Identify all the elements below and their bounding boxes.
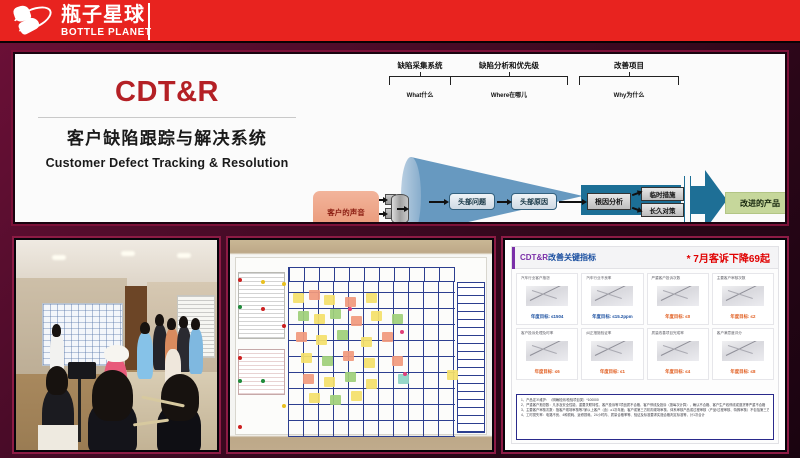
kpi-card[interactable]: 汽车行业不良率 年度目标: ≤15.2ppm [581, 273, 643, 325]
kpi-card[interactable]: 纠正措施验证率 年度目标: ≤1 [581, 328, 643, 380]
output-arrow-icon [691, 170, 723, 224]
kpi-card[interactable]: 主要客户审核次数 年度目标: ≤2 [712, 273, 774, 325]
process-box-2: 头部原因 [511, 193, 557, 210]
kpi-goal: 年度目标: ≤8 [713, 369, 773, 375]
kpi-card-label: 纠正措施验证率 [586, 332, 638, 336]
kpi-card[interactable]: 客户满意度评分 年度目标: ≤8 [712, 328, 774, 380]
kpi-goal: 年度目标: ≤0 [648, 314, 708, 320]
group-2-label: 缺陷分析和优先级 [447, 60, 571, 71]
kpi-chart-thumbnail [591, 286, 633, 306]
root-cause-box: 根因分析 [587, 193, 631, 210]
dashboard-footnotes: 1、产品定义维护：（明确检测/检验项目类）*100000 2、严重客户抱怨数：凡… [516, 394, 774, 440]
kpi-goal: 年度目标: ≤1504 [517, 314, 577, 320]
phase-separator [684, 176, 691, 224]
kpi-card-label: 严重客户投诉次数 [652, 277, 704, 281]
kpi-chart-thumbnail [722, 286, 764, 306]
subtitle-en: Customer Defect Tracking & Resolution [33, 156, 301, 170]
process-box-1: 头部问题 [449, 193, 495, 210]
dashboard-header: CDT&R改善关键指标 * 7月客诉下降69起 [512, 247, 778, 269]
accent-bar [512, 247, 515, 269]
funnel-shape [411, 157, 583, 224]
kpi-card-label: 质量改善项目完成率 [652, 332, 704, 336]
page-title: CDT&R [33, 76, 301, 109]
brand-name-en: BOTTLE PLANET [61, 28, 152, 38]
kpi-chart-thumbnail [526, 286, 568, 306]
kpi-card[interactable]: 汽车行业客户抱怨 年度目标: ≤1504 [516, 273, 578, 325]
bottle-planet-logo-icon [10, 4, 54, 38]
kpi-goal: 年度目标: ≤15.2ppm [582, 314, 642, 320]
dashboard-title-prefix: CDT&R [520, 253, 548, 262]
group-3-sub: Why为什么 [573, 90, 685, 99]
action-box-1: 临时措施 [641, 187, 684, 201]
arrow-to-db [397, 208, 405, 210]
kpi-card-label: 客户满意度评分 [717, 332, 769, 336]
kpi-chart-thumbnail [591, 341, 633, 361]
subtitle-cn: 客户缺陷跟踪与解决系统 [33, 124, 301, 149]
kpi-card-grid: 汽车行业客户抱怨 年度目标: ≤1504 汽车行业不良率 年度目标: ≤15.2… [516, 273, 774, 380]
group-3-label: 改善项目 [573, 60, 685, 71]
kpi-goal: 年度目标: ≤4 [648, 369, 708, 375]
kpi-card[interactable]: 严重客户投诉次数 年度目标: ≤0 [647, 273, 709, 325]
kpi-card-label: 汽车行业不良率 [586, 277, 638, 281]
kpi-card-label: 主要客户审核次数 [717, 277, 769, 281]
arrow-p1 [429, 201, 445, 203]
kpi-chart-thumbnail [657, 286, 699, 306]
diagram-title-block: CDT&R 客户缺陷跟踪与解决系统 Customer Defect Tracki… [33, 76, 301, 170]
visual-management-board-photo [228, 238, 494, 452]
kpi-card[interactable]: 客户投诉处理及时率 年度目标: ≤6 [516, 328, 578, 380]
kpi-chart-thumbnail [526, 341, 568, 361]
workshop-meeting-photo [14, 238, 219, 452]
cdtr-diagram-panel: CDT&R 客户缺陷跟踪与解决系统 Customer Defect Tracki… [13, 52, 787, 224]
arrow-p2 [497, 201, 508, 203]
footnote-line: 4、工时损失率：电路不良、4种损耗、返修损耗、24小时内、质量合格率等、验证及标… [521, 413, 769, 418]
title-divider [38, 117, 296, 118]
collector-node-3 [385, 222, 396, 224]
group-2-sub: Where在哪儿 [447, 90, 571, 99]
arrow-in-1 [379, 199, 384, 201]
arrow-in-2 [379, 213, 384, 215]
group-2: 缺陷分析和优先级 Where在哪儿 [447, 60, 571, 99]
customer-voice-box: 客户的声音 [313, 191, 379, 224]
kpi-chart-thumbnail [722, 341, 764, 361]
arrow-p3 [559, 201, 583, 203]
kpi-dashboard-panel: CDT&R改善关键指标 * 7月客诉下降69起 汽车行业客户抱怨 年度目标: ≤… [503, 238, 787, 452]
improved-product-box: 改进的产品 [725, 192, 787, 214]
kpi-card-label: 客户投诉处理及时率 [521, 332, 573, 336]
brand-name-cn: 瓶子星球 [61, 5, 152, 25]
group-3: 改善项目 Why为什么 [573, 60, 685, 99]
app-header: 瓶子星球 BOTTLE PLANET [0, 0, 800, 43]
dashboard-title-rest: 改善关键指标 [548, 253, 596, 262]
dashboard-headline: * 7月客诉下降69起 [687, 250, 770, 265]
dashboard-title: CDT&R改善关键指标 [520, 252, 596, 263]
kpi-chart-thumbnail [657, 341, 699, 361]
action-box-2: 长久对策 [641, 203, 684, 217]
kpi-card-label: 汽车行业客户抱怨 [521, 277, 573, 281]
kpi-goal: 年度目标: ≤2 [713, 314, 773, 320]
header-divider [148, 3, 150, 40]
kpi-goal: 年度目标: ≤6 [517, 369, 577, 375]
brand-logo: 瓶子星球 BOTTLE PLANET [10, 4, 152, 38]
kpi-goal: 年度目标: ≤1 [582, 369, 642, 375]
kpi-card[interactable]: 质量改善项目完成率 年度目标: ≤4 [647, 328, 709, 380]
